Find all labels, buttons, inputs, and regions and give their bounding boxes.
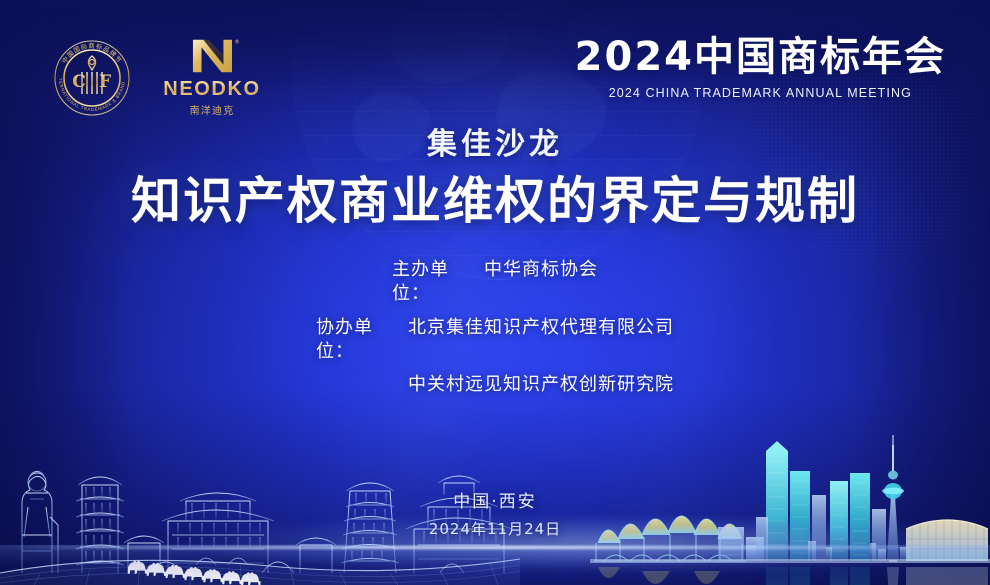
organizer-row: 协办单位： 北京集佳知识产权代理有限公司 — [316, 316, 674, 365]
organizer-label: 协办单位： — [316, 316, 408, 365]
event-location-block: 中国·西安 2024年11月24日 — [0, 492, 990, 539]
neodko-chinese-name: 南洋迪克 — [160, 102, 264, 117]
center-title-block: 集佳沙龙 知识产权商业维权的界定与规制 — [0, 130, 990, 229]
event-header: 2024中国商标年会 2024 CHINA TRADEMARK ANNUAL M… — [575, 36, 946, 100]
organizer-value: 北京集佳知识产权代理有限公司 — [408, 316, 674, 340]
salon-name: 集佳沙龙 — [0, 130, 990, 160]
event-date: 2024年11月24日 — [0, 518, 990, 539]
logo-group: 中国国际商标品牌节 CHINA INTERNATIONAL TRADEMARK … — [46, 32, 264, 124]
svg-text:®: ® — [235, 39, 239, 46]
organizer-row: 协办单位： 中关村远见知识产权创新研究院 — [316, 373, 674, 422]
neodko-wordmark: NEODKO — [160, 79, 264, 99]
session-headline: 知识产权商业维权的界定与规制 — [0, 173, 990, 229]
event-title-en: 2024 CHINA TRADEMARK ANNUAL MEETING — [575, 86, 946, 100]
china-trademark-association-logo: 中国国际商标品牌节 CHINA INTERNATIONAL TRADEMARK … — [46, 32, 138, 124]
svg-text:C: C — [72, 72, 86, 92]
conference-banner: 中国国际商标品牌节 CHINA INTERNATIONAL TRADEMARK … — [0, 0, 990, 585]
organizer-list: 主办单位： 中华商标协会 协办单位： 北京集佳知识产权代理有限公司 协办单位： … — [0, 258, 990, 422]
organizer-value: 中关村远见知识产权创新研究院 — [408, 373, 674, 397]
organizer-row: 主办单位： 中华商标协会 — [392, 258, 598, 307]
svg-text:F: F — [99, 72, 111, 92]
event-city: 中国·西安 — [0, 492, 990, 513]
horizon-line — [0, 546, 990, 549]
event-title-cn: 2024中国商标年会 — [575, 36, 946, 79]
neodko-logo: ® NEODKO 南洋迪克 — [160, 36, 264, 120]
water-reflection — [0, 545, 990, 585]
neodko-n-mark: ® — [185, 36, 239, 76]
organizer-value: 中华商标协会 — [484, 258, 598, 282]
organizer-label: 主办单位： — [392, 258, 484, 307]
